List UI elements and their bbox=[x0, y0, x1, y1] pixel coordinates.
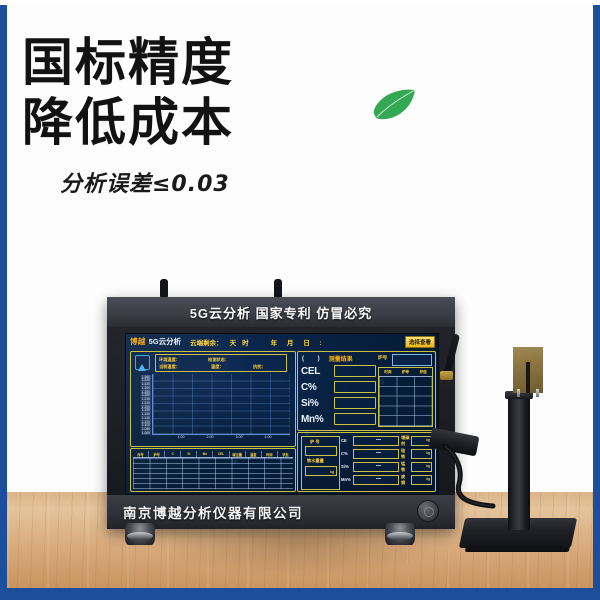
unit-day-label: 天 bbox=[230, 337, 237, 347]
headline-line-2: 降低成本 bbox=[22, 94, 352, 154]
calc-target-row: CE bbox=[341, 436, 399, 445]
ambient-temp-label: 环境温度： bbox=[159, 357, 180, 363]
calc-addition-label: 锰 铁 bbox=[401, 461, 410, 473]
alloy-calculation-panel: 炉 号 铁水重量 kg CEC%Si%Mn% 增碳剂kg硅 铁kg锰 铁kg废 … bbox=[297, 432, 436, 492]
result-furnace-input[interactable] bbox=[392, 354, 432, 366]
sample-cup-slot bbox=[526, 362, 530, 393]
history-column-header: 炉值 bbox=[414, 368, 432, 376]
calc-target-range-input[interactable] bbox=[353, 436, 399, 446]
device-foot-right bbox=[385, 523, 415, 545]
x-tick: 1.00 bbox=[178, 435, 185, 439]
device-foot-left bbox=[125, 523, 155, 545]
screen-topbar: 博越 5G云分析 云端剩余： 天 时 年 月 日 : 选择查看 bbox=[126, 334, 438, 349]
headline-line-1: 国标精度 bbox=[22, 34, 352, 94]
calc-target-range-input[interactable] bbox=[353, 449, 399, 459]
iron-weight-input[interactable]: kg bbox=[305, 466, 337, 476]
calc-addition-row: 增碳剂kg bbox=[401, 436, 432, 445]
stand-base-lower bbox=[465, 540, 572, 552]
frame-edge-right bbox=[593, 0, 600, 600]
result-title: 测量结果 bbox=[329, 354, 353, 363]
calc-addition-unit: kg bbox=[426, 477, 430, 481]
result-element-value[interactable] bbox=[334, 397, 376, 409]
result-element-label: Si% bbox=[301, 398, 334, 409]
current-temp-label: 当前温度： bbox=[159, 364, 180, 370]
device-screen[interactable]: 博越 5G云分析 云端剩余： 天 时 年 月 日 : 选择查看 环境温度： 检测… bbox=[125, 333, 439, 495]
app-logo-cn: 博越 bbox=[130, 336, 146, 347]
curve-plot-area: 1.3601.3401.3201.3001.2801.2601.2401.220… bbox=[152, 374, 290, 435]
result-row: C% bbox=[301, 381, 376, 393]
target-range-column: CEC%Si%Mn% bbox=[341, 436, 399, 488]
result-element-value[interactable] bbox=[334, 365, 376, 377]
calc-element-label: CE bbox=[341, 438, 353, 443]
furnace-no-label: 炉 号 bbox=[310, 439, 320, 445]
furnace-weight-box: 炉 号 铁水重量 kg bbox=[301, 436, 340, 490]
result-row: CEL bbox=[301, 365, 376, 377]
calc-target-range-input[interactable] bbox=[353, 475, 399, 485]
furnace-no-input[interactable] bbox=[305, 446, 337, 456]
date-label: 年 月 日 : bbox=[271, 337, 326, 347]
plot-gridlines bbox=[153, 374, 290, 434]
calc-addition-row: 锰 铁kg bbox=[401, 462, 432, 471]
x-tick: 3.00 bbox=[236, 435, 243, 439]
history-grid bbox=[379, 376, 432, 426]
resistance-label: 抗扰： bbox=[253, 364, 266, 370]
marketing-headline: 国标精度 降低成本 分析误差≤0.03 bbox=[22, 34, 352, 198]
leaf-icon bbox=[372, 88, 416, 120]
thermocouple-pin-left bbox=[517, 389, 520, 397]
calc-target-row: Si% bbox=[341, 462, 399, 471]
antenna-right bbox=[274, 279, 282, 299]
power-knob[interactable] bbox=[417, 500, 439, 522]
temperature-label: 温度： bbox=[211, 364, 224, 370]
select-view-button[interactable]: 选择查看 bbox=[405, 336, 435, 348]
calc-addition-unit: kg bbox=[426, 464, 430, 468]
thermocouple-pin-right bbox=[536, 389, 539, 397]
headline-subline: 分析误差≤0.03 bbox=[60, 166, 352, 198]
calc-element-label: Si% bbox=[341, 464, 353, 469]
calc-addition-label: 废 钢 bbox=[401, 474, 410, 486]
frame-edge-top bbox=[0, 0, 600, 5]
frame-edge-bottom bbox=[0, 588, 600, 600]
spectrometer-device: 5G云分析 国家专利 仿冒必究 博越 5G云分析 云端剩余： 天 时 年 月 日… bbox=[107, 297, 455, 529]
calc-addition-unit: kg bbox=[426, 451, 430, 455]
result-furnace-label: 炉号 bbox=[378, 355, 387, 361]
calc-addition-label: 硅 铁 bbox=[401, 448, 410, 460]
probe-cable bbox=[441, 444, 501, 510]
result-element-value[interactable] bbox=[334, 413, 376, 425]
chart-info-box: 环境温度： 检测状态： 当前温度： 温度： 抗扰： bbox=[155, 354, 287, 372]
calc-element-label: C% bbox=[341, 451, 353, 456]
calc-element-label: Mn% bbox=[341, 477, 353, 482]
calc-target-row: Mn% bbox=[341, 475, 399, 484]
iron-weight-label: 铁水重量 bbox=[307, 458, 324, 464]
calc-target-range-input[interactable] bbox=[353, 462, 399, 472]
iron-weight-unit: kg bbox=[330, 470, 334, 474]
antenna-side-connector bbox=[440, 371, 453, 380]
calc-addition-row: 硅 铁kg bbox=[401, 449, 432, 458]
cloud-remaining-label: 云端剩余： bbox=[190, 337, 223, 347]
result-panel: ( ) 测量结果 CELC%Si%Mn% 炉号 时间炉号炉值 bbox=[297, 351, 436, 431]
history-mini-table[interactable]: 时间炉号炉值 bbox=[378, 367, 433, 427]
calc-addition-label: 增碳剂 bbox=[401, 435, 410, 447]
stand-column bbox=[508, 395, 530, 530]
product-promo-image: 国标精度 降低成本 分析误差≤0.03 5G云分析 国家专利 仿冒必究 博越 5… bbox=[0, 0, 600, 600]
result-element-value[interactable] bbox=[334, 381, 376, 393]
antenna-left bbox=[160, 279, 168, 299]
result-header: ( ) 测量结果 bbox=[302, 354, 353, 363]
result-element-label: CEL bbox=[301, 366, 334, 377]
history-column-header: 时间 bbox=[379, 368, 397, 376]
result-row: Si% bbox=[301, 397, 376, 409]
table-body: 序号炉号CSiMnCEL碳当量温度时间状态 bbox=[133, 451, 293, 489]
cooling-curve-panel: 环境温度： 检测状态： 当前温度： 温度： 抗扰： 1.3601.3401.32… bbox=[130, 351, 296, 447]
calc-target-row: C% bbox=[341, 449, 399, 458]
result-paren: ( ) bbox=[302, 356, 326, 362]
chart-logo-icon bbox=[135, 355, 150, 370]
x-tick: 4.00 bbox=[265, 435, 272, 439]
calc-addition-row: 废 钢kg bbox=[401, 475, 432, 484]
frame-edge-left bbox=[0, 0, 7, 600]
calc-addition-input[interactable]: kg bbox=[411, 449, 432, 459]
app-logo-en: 5G云分析 bbox=[149, 336, 182, 347]
calc-addition-input[interactable]: kg bbox=[411, 462, 432, 472]
y-tick: 1.060 bbox=[141, 431, 151, 435]
x-tick: 2.00 bbox=[207, 435, 214, 439]
table-grid bbox=[133, 457, 293, 489]
result-element-label: Mn% bbox=[301, 414, 334, 425]
history-column-header: 炉号 bbox=[397, 368, 415, 376]
result-row: Mn% bbox=[301, 413, 376, 425]
unit-hour-label: 时 bbox=[242, 337, 249, 347]
calc-addition-input[interactable]: kg bbox=[411, 475, 432, 485]
result-element-label: C% bbox=[301, 382, 334, 393]
probe-status-label: 检测状态： bbox=[208, 357, 229, 363]
measurement-history-table[interactable]: 序号炉号CSiMnCEL碳当量温度时间状态 bbox=[130, 448, 296, 492]
device-top-banner: 5G云分析 国家专利 仿冒必究 bbox=[107, 297, 455, 327]
addition-column: 增碳剂kg硅 铁kg锰 铁kg废 钢kg bbox=[401, 436, 432, 488]
